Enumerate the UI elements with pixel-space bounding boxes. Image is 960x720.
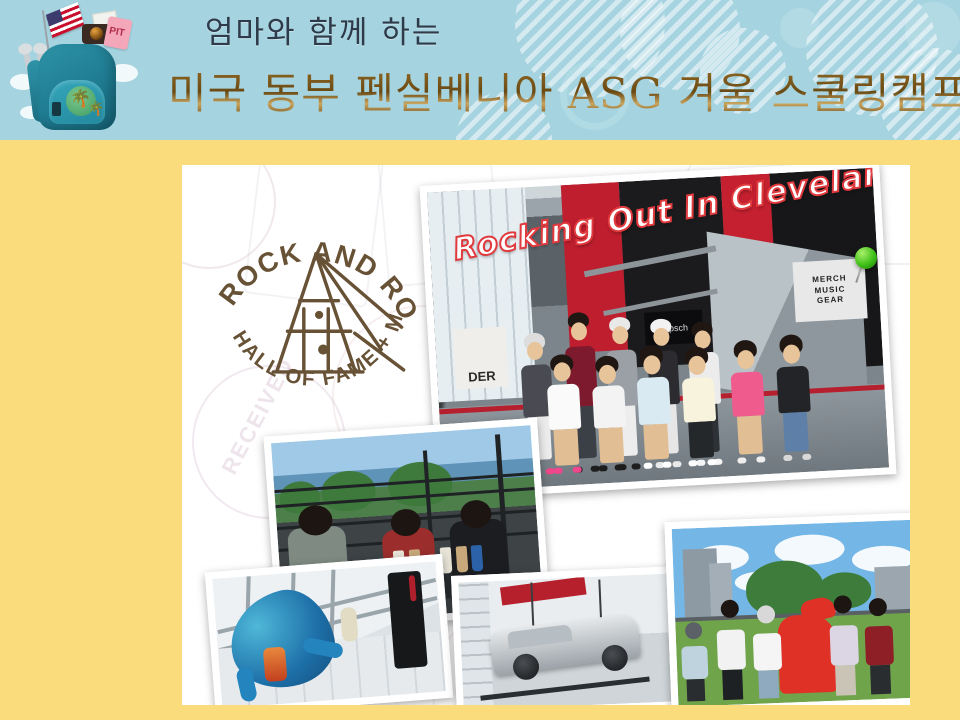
student-figure <box>864 597 896 694</box>
student-figure <box>715 599 747 700</box>
backpack-icon: PIT 🌴 🌴 <box>8 2 140 138</box>
student-figure <box>751 605 783 699</box>
ticket-icon: PIT <box>103 16 132 50</box>
header-title: 미국 동부 펜실베니아 ASG 겨울 스쿨링캠프 <box>168 72 960 116</box>
student-figure <box>590 355 628 472</box>
ticket-label: PIT <box>108 25 125 39</box>
header-subtitle: 엄마와 함께 하는 <box>205 16 442 50</box>
header-banner: PIT 🌴 🌴 엄마와 함께 하는 미국 동부 펜실베니아 ASG 겨울 스쿨링… <box>0 0 960 140</box>
student-figure <box>729 340 768 464</box>
green-pin-icon[interactable] <box>855 247 877 269</box>
slide-root: PIT 🌴 🌴 엄마와 함께 하는 미국 동부 펜실베니아 ASG 겨울 스쿨링… <box>0 0 960 720</box>
photo-red-statue[interactable] <box>664 512 910 705</box>
us-flag-icon <box>46 2 84 38</box>
student-figure <box>635 345 674 469</box>
photo-hanging-car[interactable] <box>451 566 683 705</box>
student-figure <box>828 595 860 696</box>
student-figure <box>545 354 584 475</box>
photo-blue-alien-sculpture[interactable] <box>205 554 454 705</box>
student-figure <box>680 346 719 467</box>
student-figure <box>680 622 709 701</box>
student-figure <box>774 333 813 461</box>
svg-text:ROCK AND ROLL: ROCK AND ROLL <box>202 207 425 326</box>
rock-and-roll-hall-of-fame-logo: ROCK AND ROLL HALL OF FAME + MUSEUM <box>202 207 426 431</box>
content-panel: RECEIVED ARRIVAL <box>182 165 910 705</box>
